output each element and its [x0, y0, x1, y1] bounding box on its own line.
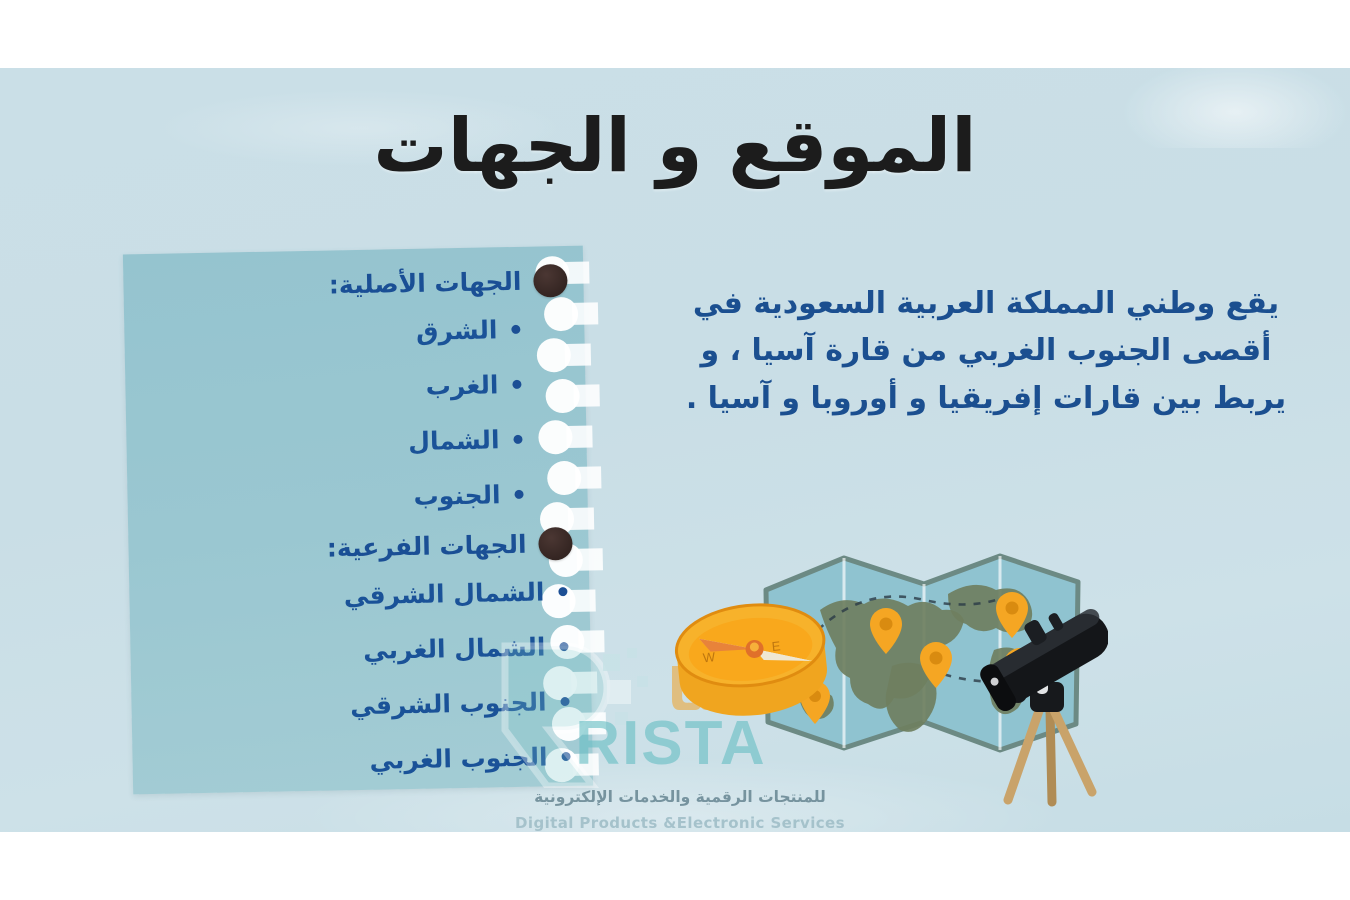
notepad-card: الجهات الأصلية: الشرق الغرب الشمال: [123, 246, 593, 795]
bullet-point-icon: [514, 490, 523, 499]
list-item-label: الشمال الشرقي: [344, 577, 545, 610]
notepad-tear-notch: [573, 384, 599, 406]
list-item: الغرب: [165, 356, 570, 419]
list-item-label: الشمال الغربي: [363, 632, 546, 664]
bullet-point-icon: [559, 642, 568, 651]
list-item-label: الجنوب: [413, 480, 501, 511]
notepad-tear-notch: [575, 466, 601, 488]
section-heading-label: الجهات الفرعية:: [327, 530, 527, 563]
bullet-point-icon: [511, 325, 520, 334]
bullet-point-icon: [558, 587, 567, 596]
list-item-label: الشرق: [416, 315, 498, 346]
bullet-point-icon: [512, 380, 521, 389]
list-item: الجنوب: [167, 466, 572, 529]
notepad-tear-notch: [578, 630, 604, 652]
notepad-tear-notch: [577, 548, 603, 570]
slide-canvas: الموقع و الجهات الجهات الأصلية: الشرق: [0, 68, 1350, 832]
list-item-label: الشمال: [408, 425, 500, 456]
section-primary-directions: الجهات الأصلية: الشرق الغرب الشمال: [163, 264, 572, 529]
list-item: الشمال الشرقي: [169, 564, 574, 627]
intro-paragraph: يقع وطني المملكة العربية السعودية في أقص…: [680, 280, 1292, 422]
page-title: الموقع و الجهات: [0, 108, 1350, 186]
slide-stage: الموقع و الجهات الجهات الأصلية: الشرق: [0, 0, 1350, 900]
bullet-point-icon: [561, 752, 570, 761]
section-heading-secondary: الجهات الفرعية:: [168, 527, 573, 568]
list-item: الجنوب الشرقي: [171, 674, 576, 737]
illustration-group: W E: [648, 498, 1108, 818]
notepad-tear-notch: [572, 302, 598, 324]
list-item-label: الغرب: [425, 370, 498, 400]
section-bullet-icon: [533, 264, 568, 298]
list-item: الجنوب الغربي: [172, 729, 577, 792]
section-heading-label: الجهات الأصلية:: [329, 267, 522, 300]
list-item: الشمال: [166, 411, 571, 474]
directions-list: الجهات الأصلية: الشرق الغرب الشمال: [163, 264, 577, 792]
list-item-label: الجنوب الغربي: [369, 742, 548, 774]
section-bullet-icon: [538, 527, 573, 561]
section-secondary-directions: الجهات الفرعية: الشمال الشرقي الشمال الغ…: [168, 527, 577, 792]
svg-text:W: W: [702, 649, 716, 665]
section-heading-primary: الجهات الأصلية:: [163, 264, 568, 305]
bullet-point-icon: [513, 435, 522, 444]
notepad-tear-notch: [580, 712, 606, 734]
list-item: الشرق: [164, 301, 569, 364]
list-item: الشمال الغربي: [170, 619, 575, 682]
list-item-label: الجنوب الشرقي: [350, 687, 547, 720]
bullet-point-icon: [560, 697, 569, 706]
